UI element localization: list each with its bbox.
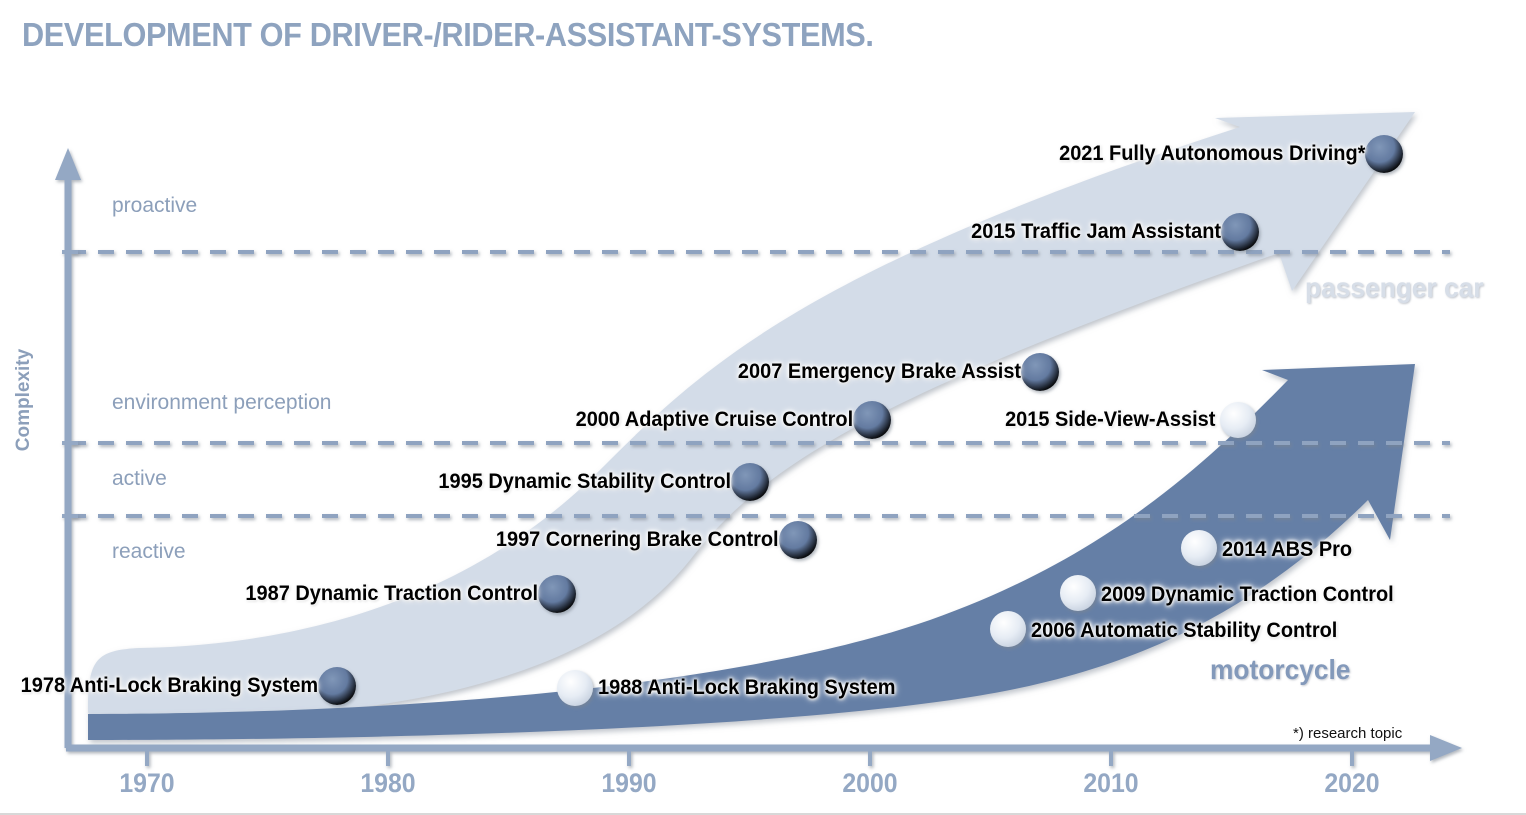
milestone-label-2007-emergency-brake-assist: 2007 Emergency Brake Assist [738, 360, 1021, 384]
zone-label-proactive: proactive [112, 194, 197, 218]
marker-2021-fully-autonomous-driving [1365, 135, 1403, 173]
milestone-label-2015-traffic-jam-assistant: 2015 Traffic Jam Assistant [971, 220, 1221, 244]
marker-1978-anti-lock-braking-system [318, 667, 356, 705]
category-label-passenger-car: passenger car [1305, 272, 1483, 304]
marker-2000-adaptive-cruise-control [853, 401, 891, 439]
marker-1997-cornering-brake-control [779, 521, 817, 559]
marker-2009-dynamic-traction-control [1060, 575, 1096, 611]
marker-2015-traffic-jam-assistant [1221, 213, 1259, 251]
xtick-1990: 1990 [601, 768, 656, 799]
milestone-label-2009-dynamic-traction-control: 2009 Dynamic Traction Control [1101, 583, 1394, 607]
milestone-label-1987-dynamic-traction-control: 1987 Dynamic Traction Control [245, 582, 538, 606]
xtick-2020: 2020 [1324, 768, 1379, 799]
marker-2006-automatic-stability-control [990, 611, 1026, 647]
x-axis-arrowhead [1430, 735, 1462, 761]
milestone-label-2000-adaptive-cruise-control: 2000 Adaptive Cruise Control [575, 408, 853, 432]
marker-1987-dynamic-traction-control [538, 575, 576, 613]
marker-1995-dynamic-stability-control [731, 463, 769, 501]
xtick-1970: 1970 [119, 768, 174, 799]
xtick-2010: 2010 [1083, 768, 1138, 799]
milestone-label-1995-dynamic-stability-control: 1995 Dynamic Stability Control [438, 470, 731, 494]
milestone-label-1988-anti-lock-braking-system: 1988 Anti-Lock Braking System [598, 676, 896, 700]
footnote-research-topic: *) research topic [1293, 725, 1402, 742]
x-axis-ticks [147, 750, 1352, 766]
category-label-motorcycle: motorcycle [1210, 654, 1350, 686]
y-axis-label: Complexity [13, 349, 35, 451]
marker-1988-anti-lock-braking-system [557, 670, 593, 706]
zone-label-reactive: reactive [112, 540, 186, 564]
y-axis-arrowhead [55, 148, 81, 180]
milestone-label-2015-side-view-assist: 2015 Side-View-Assist [1005, 408, 1215, 432]
xtick-1980: 1980 [360, 768, 415, 799]
milestone-label-1997-cornering-brake-control: 1997 Cornering Brake Control [496, 528, 779, 552]
marker-2014-abs-pro [1181, 530, 1217, 566]
milestone-label-2006-automatic-stability-control: 2006 Automatic Stability Control [1031, 619, 1337, 643]
xtick-2000: 2000 [842, 768, 897, 799]
slide-canvas: DEVELOPMENT OF DRIVER-/RIDER-ASSISTANT-S… [0, 0, 1526, 815]
zone-label-active: active [112, 467, 167, 491]
milestone-label-1978-anti-lock-braking-system: 1978 Anti-Lock Braking System [20, 674, 318, 698]
marker-2015-side-view-assist [1220, 402, 1256, 438]
milestone-label-2021-fully-autonomous-driving: 2021 Fully Autonomous Driving* [1059, 142, 1365, 166]
milestone-label-2014-abs-pro: 2014 ABS Pro [1222, 538, 1352, 562]
zone-label-environment-perception: environment perception [112, 391, 331, 415]
marker-2007-emergency-brake-assist [1021, 353, 1059, 391]
